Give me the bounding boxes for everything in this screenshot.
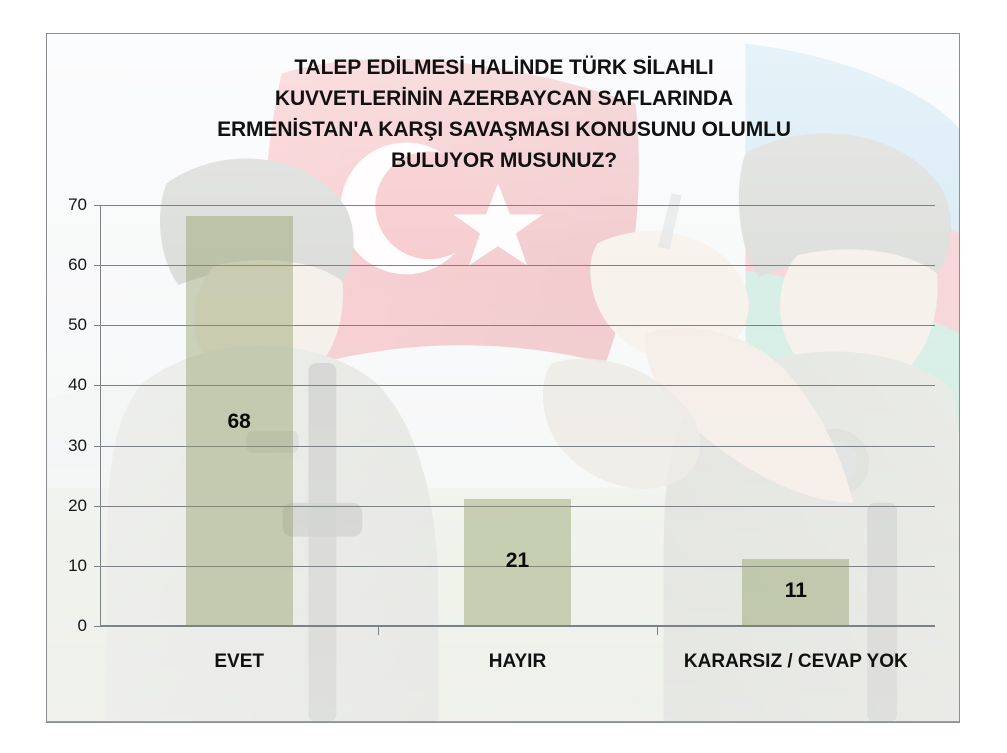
y-axis-label-30: 30 [68,436,87,456]
gridline-0 [100,626,935,627]
y-axis-label-0: 0 [78,616,87,636]
bar-value-label-1: 21 [464,549,571,573]
y-axis-label-50: 50 [68,315,87,335]
poll-bar-chart: TALEP EDİLMESİ HALİNDE TÜRK SİLAHLI KUVV… [46,33,960,723]
chart-title: TALEP EDİLMESİ HALİNDE TÜRK SİLAHLI KUVV… [47,52,960,176]
bar-value-label-0: 68 [186,410,293,434]
y-axis-label-60: 60 [68,255,87,275]
gridline-70 [100,205,935,206]
y-axis-label-70: 70 [68,195,87,215]
chart-title-line-2: KUVVETLERİNİN AZERBAYCAN SAFLARINDA [47,83,960,114]
y-axis-label-40: 40 [68,375,87,395]
plot-area: 010203040506070 682111 [100,205,935,626]
bar-value-label-2: 11 [742,579,849,603]
category-label-kararsiz-cevap-yok: KARARSIZ / CEVAP YOK [657,647,935,677]
y-axis [100,205,101,626]
frame-bottom-border [47,721,959,722]
chart-title-line-1: TALEP EDİLMESİ HALİNDE TÜRK SİLAHLI [47,52,960,83]
y-axis-label-20: 20 [68,496,87,516]
category-label-evet: EVET [100,647,378,677]
x-axis [100,625,935,626]
chart-title-line-3: ERMENİSTAN'A KARŞI SAVAŞMASI KONUSUNU OL… [47,114,960,145]
category-divider-tick-2 [657,626,658,635]
category-label-hayir: HAYIR [378,647,656,677]
category-divider-tick-1 [378,626,379,635]
y-tick-0 [94,626,100,627]
y-axis-label-10: 10 [68,556,87,576]
chart-title-line-4: BULUYOR MUSUNUZ? [47,145,960,176]
